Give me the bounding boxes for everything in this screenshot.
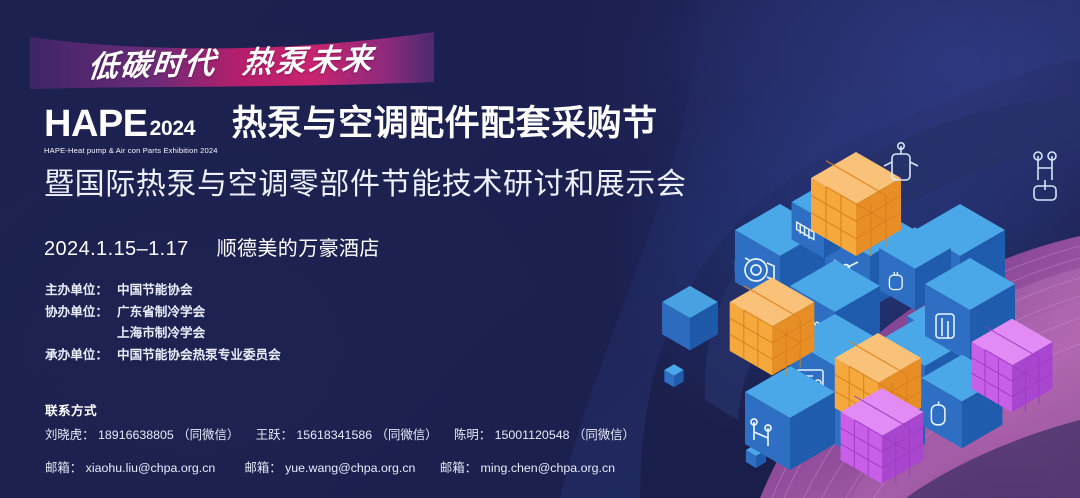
page-subtitle: 暨国际热泵与空调零部件节能技术研讨和展示会	[44, 166, 687, 204]
contact-heading: 联系方式	[45, 400, 97, 419]
contact-person: 王跃： 15618341586 （同微信）	[256, 428, 441, 442]
email-address[interactable]: xiaohu.liu@chpa.org.cn	[86, 461, 216, 475]
organizer-row: 协办单位： 广东省制冷学会	[45, 302, 281, 324]
email-address[interactable]: yue.wang@chpa.org.cn	[285, 461, 415, 475]
email-label: 邮箱：	[440, 461, 477, 475]
contact-name: 王跃：	[256, 428, 293, 442]
contact-note: （同微信）	[573, 428, 635, 442]
organizer-value: 中国节能协会热泵专业委员会	[117, 345, 281, 367]
email-label: 邮箱：	[244, 461, 281, 475]
contact-name: 陈明：	[454, 428, 491, 442]
hape-logo-text: HAPE	[44, 104, 148, 144]
organizer-value: 广东省制冷学会	[117, 302, 205, 324]
hape-logo: HAPE 2024 HAPE-Heat pump & Air con Parts…	[44, 104, 232, 155]
piping-manifold-icon	[1034, 152, 1056, 200]
isometric-cube-artwork	[660, 120, 1080, 410]
organizer-label: 主办单位：	[45, 280, 117, 302]
event-venue: 顺德美的万豪酒店	[217, 238, 380, 260]
floating-cube	[662, 286, 718, 350]
organizer-value: 中国节能协会	[117, 280, 193, 302]
promotional-banner: 低碳时代 热泵未来 HAPE 2024 HAPE-Heat pump & Air…	[0, 0, 1080, 498]
event-date: 2024.1.15–1.17	[44, 238, 189, 260]
organizer-row: 主办单位： 中国节能协会	[45, 280, 281, 302]
contact-note: （同微信）	[177, 428, 239, 442]
contact-emails: 邮箱： xiaohu.liu@chpa.org.cn 邮箱： yue.wang@…	[45, 458, 615, 476]
contact-name: 刘晓虎：	[45, 428, 95, 442]
contact-person: 陈明： 15001120548 （同微信）	[454, 428, 635, 442]
contact-email-item: 邮箱： yue.wang@chpa.org.cn	[244, 458, 436, 476]
contact-note: （同微信）	[376, 428, 438, 442]
floating-cube-small	[664, 364, 683, 387]
organizer-list: 主办单位： 中国节能协会 协办单位： 广东省制冷学会 协办单位： 上海市制冷学会…	[45, 280, 281, 366]
hape-logo-year: 2024	[150, 114, 196, 144]
contact-email-item: 邮箱： xiaohu.liu@chpa.org.cn	[45, 458, 241, 476]
contact-email-item: 邮箱： ming.chen@chpa.org.cn	[440, 458, 615, 476]
logo-title-row: HAPE 2024 HAPE-Heat pump & Air con Parts…	[44, 104, 658, 155]
email-address[interactable]: ming.chen@chpa.org.cn	[481, 461, 616, 475]
contact-phone: 15618341586	[296, 428, 372, 442]
organizer-row: 承办单位： 中国节能协会热泵专业委员会	[45, 345, 281, 367]
hape-logo-subtitle: HAPE-Heat pump & Air con Parts Exhibitio…	[44, 146, 218, 155]
calligraphy-part-2: 热泵未来	[241, 34, 378, 82]
email-label: 邮箱：	[45, 461, 82, 475]
organizer-label: 承办单位：	[45, 345, 117, 367]
calligraphy-text: 低碳时代 热泵未来	[27, 24, 438, 95]
contact-phones: 刘晓虎： 18916638805 （同微信） 王跃： 15618341586 （…	[45, 425, 635, 443]
contact-phone: 18916638805	[98, 428, 174, 442]
contact-person: 刘晓虎： 18916638805 （同微信）	[45, 428, 243, 442]
page-title: 热泵与空调配件配套采购节	[232, 104, 658, 144]
hape-wordmark: HAPE 2024	[44, 104, 218, 144]
calligraphy-part-1: 低碳时代	[86, 38, 219, 86]
event-date-venue: 2024.1.15–1.17 顺德美的万豪酒店	[44, 232, 380, 261]
organizer-value: 上海市制冷学会	[117, 323, 205, 345]
contact-phone: 15001120548	[495, 428, 570, 442]
organizer-label: 协办单位：	[45, 302, 117, 324]
calligraphy-ribbon: 低碳时代 热泵未来	[30, 30, 434, 90]
organizer-row: 协办单位： 上海市制冷学会	[45, 323, 281, 345]
